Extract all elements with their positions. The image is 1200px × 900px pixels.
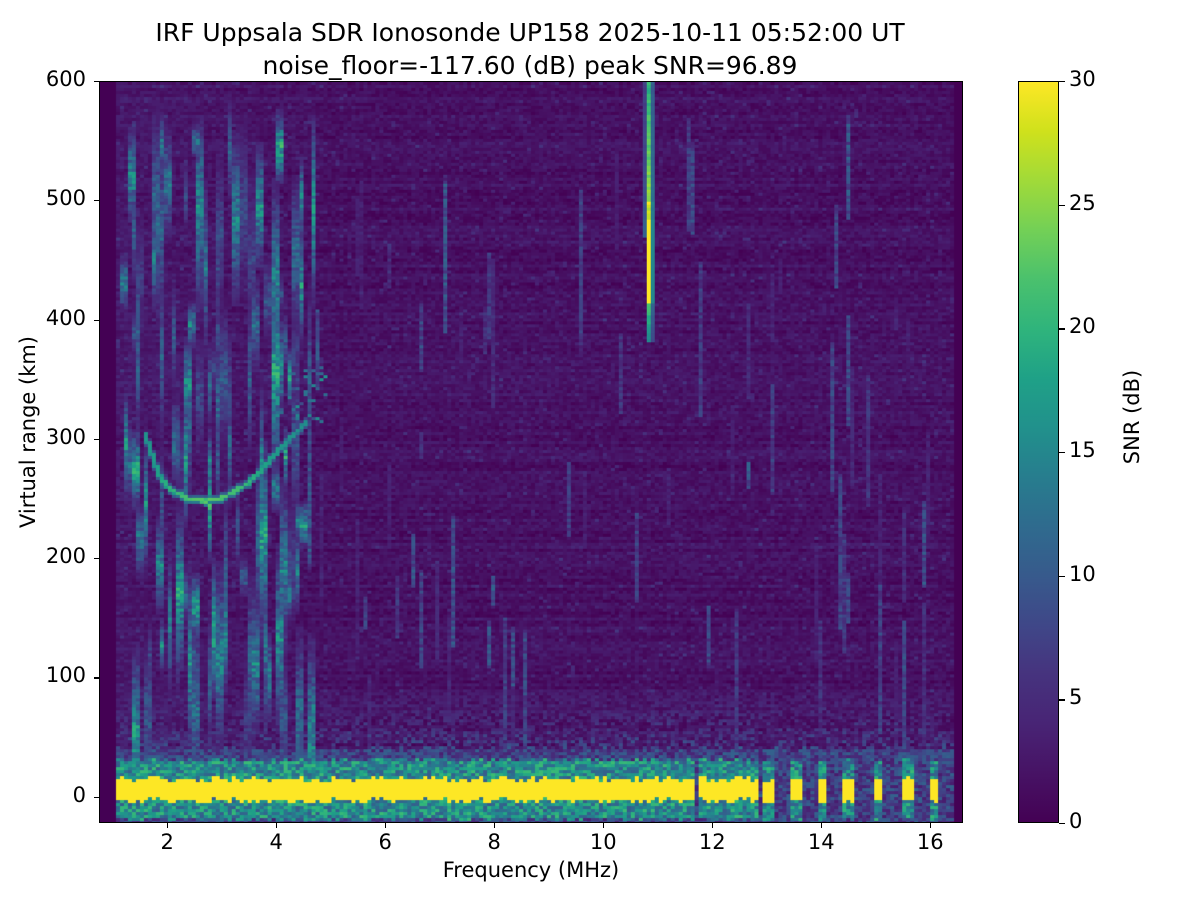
x-tick-label: 2 [137,830,197,854]
colorbar-title: SNR (dB) [1120,237,1144,597]
colorbar-tick-mark [1059,823,1065,824]
colorbar-tick-label: 30 [1069,67,1096,91]
colorbar-tick-label: 20 [1069,314,1096,338]
y-tick-mark [94,200,99,201]
colorbar-tick-mark [1059,452,1065,453]
x-tick-label: 14 [791,830,851,854]
x-tick-mark [494,823,495,828]
y-tick-label: 300 [0,425,86,449]
title-line-1: IRF Uppsala SDR Ionosonde UP158 2025-10-… [155,18,904,47]
y-tick-mark [94,797,99,798]
x-tick-label: 12 [682,830,742,854]
x-tick-label: 4 [246,830,306,854]
colorbar-tick-label: 0 [1069,809,1082,833]
colorbar-tick-mark [1059,576,1065,577]
figure-title: IRF Uppsala SDR Ionosonde UP158 2025-10-… [0,16,1060,82]
y-tick-label: 500 [0,186,86,210]
x-tick-mark [821,823,822,828]
x-tick-mark [930,823,931,828]
ionogram-heatmap-canvas [100,82,962,822]
y-tick-label: 0 [0,783,86,807]
y-axis-title: Virtual range (km) [16,252,40,612]
x-axis-title: Frequency (MHz) [99,858,963,882]
colorbar [1018,81,1059,823]
x-tick-mark [385,823,386,828]
y-tick-label: 100 [0,663,86,687]
x-tick-mark [276,823,277,828]
title-line-2: noise_floor=-117.60 (dB) peak SNR=96.89 [0,49,1060,82]
y-tick-mark [94,320,99,321]
y-tick-mark [94,558,99,559]
y-tick-mark [94,677,99,678]
x-tick-mark [712,823,713,828]
ionogram-figure: IRF Uppsala SDR Ionosonde UP158 2025-10-… [0,0,1200,900]
x-tick-label: 8 [464,830,524,854]
colorbar-tick-label: 15 [1069,438,1096,462]
y-tick-label: 600 [0,67,86,91]
y-tick-label: 200 [0,544,86,568]
colorbar-tick-label: 25 [1069,191,1096,215]
y-tick-mark [94,81,99,82]
colorbar-tick-mark [1059,81,1065,82]
colorbar-tick-mark [1059,328,1065,329]
y-tick-label: 400 [0,306,86,330]
y-tick-mark [94,439,99,440]
colorbar-tick-label: 5 [1069,685,1082,709]
x-tick-label: 16 [900,830,960,854]
x-tick-mark [603,823,604,828]
x-tick-label: 6 [355,830,415,854]
colorbar-tick-mark [1059,205,1065,206]
colorbar-tick-mark [1059,699,1065,700]
colorbar-tick-label: 10 [1069,562,1096,586]
x-tick-mark [167,823,168,828]
ionogram-plot-area [99,81,963,823]
x-tick-label: 10 [573,830,633,854]
